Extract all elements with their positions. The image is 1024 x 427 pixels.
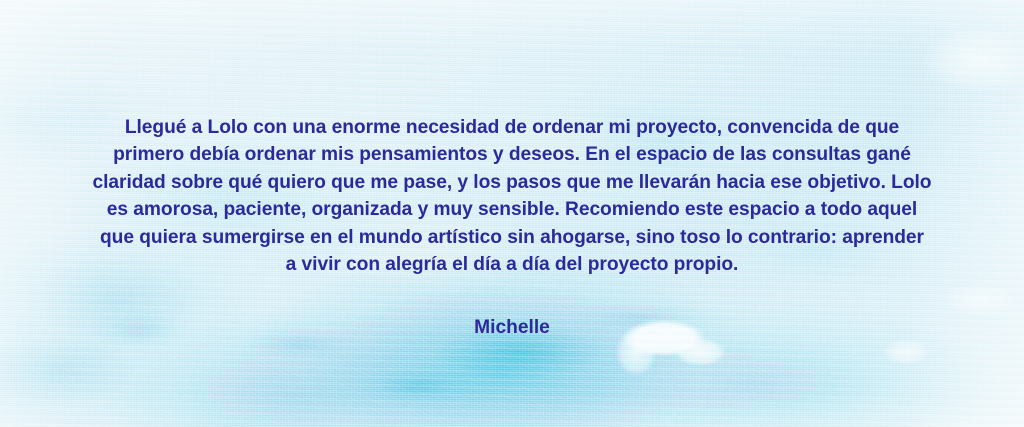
testimonial-line: Llegué a Lolo con una enorme necesidad d… <box>42 114 982 141</box>
testimonial-text: Llegué a Lolo con una enorme necesidad d… <box>42 114 982 278</box>
testimonial-author: Michelle <box>474 314 550 341</box>
testimonial-card: Llegué a Lolo con una enorme necesidad d… <box>0 0 1024 427</box>
testimonial-line: primero debía ordenar mis pensamientos y… <box>42 141 982 168</box>
testimonial-line: a vivir con alegría el día a día del pro… <box>42 251 982 278</box>
testimonial-line: claridad sobre qué quiero que me pase, y… <box>42 169 982 196</box>
testimonial-line: que quiera sumergirse en el mundo artíst… <box>42 224 982 251</box>
testimonial-line: es amorosa, paciente, organizada y muy s… <box>42 196 982 223</box>
card-content: Llegué a Lolo con una enorme necesidad d… <box>0 0 1024 427</box>
